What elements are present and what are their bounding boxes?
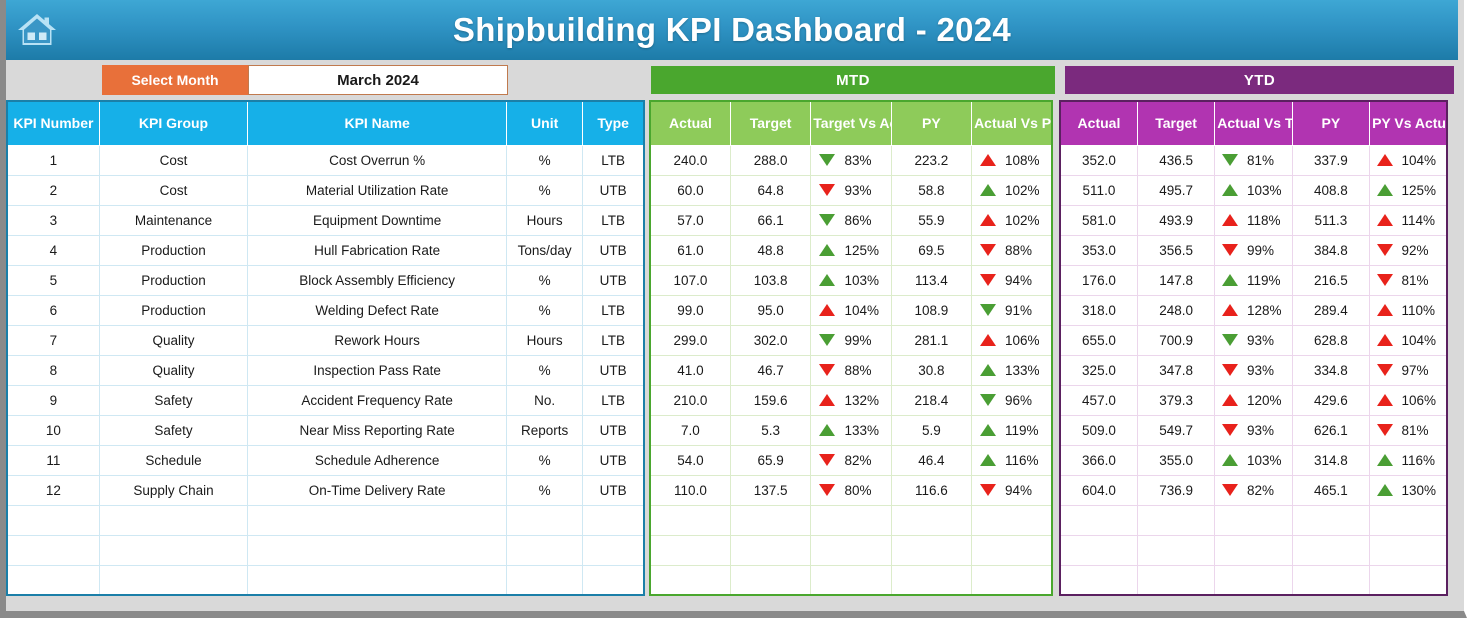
empty-cell: [99, 505, 247, 535]
cell-ytd-actual: 581.0: [1060, 205, 1137, 235]
variance-value: 114%: [1402, 213, 1440, 228]
cell-type: UTB: [583, 265, 644, 295]
trend-up-icon: [1377, 304, 1393, 316]
variance-value: 132%: [844, 393, 882, 408]
variance-value: 103%: [844, 273, 882, 288]
cell-mtd-py: 116.6: [891, 475, 971, 505]
cell-mtd-py: 69.5: [891, 235, 971, 265]
cell-kpi-number: 10: [7, 415, 99, 445]
variance-value: 82%: [1247, 483, 1285, 498]
col-unit: Unit: [507, 101, 583, 145]
cell-kpi-group: Production: [99, 265, 247, 295]
cell-ytd-py-vs-actual: 104%: [1370, 145, 1447, 175]
variance-value: 81%: [1247, 153, 1285, 168]
cell-ytd-actual: 366.0: [1060, 445, 1137, 475]
trend-up-icon: [980, 334, 996, 346]
cell-kpi-name: Material Utilization Rate: [248, 175, 507, 205]
title-bar: Shipbuilding KPI Dashboard - 2024: [6, 0, 1458, 60]
cell-mtd-target-vs-actual: 103%: [811, 265, 891, 295]
trend-up-icon: [1222, 214, 1238, 226]
variance-value: 106%: [1005, 333, 1043, 348]
cell-mtd-target-vs-actual: 88%: [811, 355, 891, 385]
cell-unit: Hours: [507, 205, 583, 235]
select-month-label: Select Month: [102, 65, 248, 95]
cell-mtd-actual: 61.0: [650, 235, 730, 265]
cell-type: LTB: [583, 205, 644, 235]
trend-up-icon: [819, 304, 835, 316]
cell-unit: %: [507, 475, 583, 505]
cell-mtd-target-vs-actual: 99%: [811, 325, 891, 355]
variance-value: 103%: [1247, 183, 1285, 198]
cell-ytd-actual-vs-target: 119%: [1215, 265, 1292, 295]
cell-kpi-number: 2: [7, 175, 99, 205]
trend-down-icon: [819, 334, 835, 346]
cell-mtd-target-vs-actual: 86%: [811, 205, 891, 235]
cell-mtd-target-vs-actual: 104%: [811, 295, 891, 325]
cell-mtd-actual: 7.0: [650, 415, 730, 445]
trend-up-icon: [1377, 394, 1393, 406]
empty-cell: [1292, 535, 1369, 565]
trend-up-icon: [1222, 394, 1238, 406]
col-ytd-actual: Actual: [1060, 101, 1137, 145]
table-row: 7.05.3133%5.9119%: [650, 415, 1052, 445]
table-row: 60.064.893%58.8102%: [650, 175, 1052, 205]
cell-mtd-actual: 54.0: [650, 445, 730, 475]
trend-down-icon: [819, 184, 835, 196]
mtd-header: Actual Target Target Vs Actual PY Actual…: [650, 101, 1052, 145]
table-row: 6ProductionWelding Defect Rate%LTB: [7, 295, 644, 325]
cell-mtd-actual: 110.0: [650, 475, 730, 505]
cell-ytd-actual-vs-target: 82%: [1215, 475, 1292, 505]
empty-cell: [7, 565, 99, 595]
table-row: 4ProductionHull Fabrication RateTons/day…: [7, 235, 644, 265]
cell-ytd-target: 700.9: [1137, 325, 1214, 355]
variance-value: 133%: [1005, 363, 1043, 378]
cell-mtd-actual: 107.0: [650, 265, 730, 295]
trend-down-icon: [1222, 334, 1238, 346]
cell-kpi-name: Inspection Pass Rate: [248, 355, 507, 385]
cell-ytd-py: 628.8: [1292, 325, 1369, 355]
empty-cell: [1060, 505, 1137, 535]
cell-ytd-actual: 655.0: [1060, 325, 1137, 355]
dashboard-frame: Shipbuilding KPI Dashboard - 2024 Select…: [0, 0, 1467, 618]
cell-ytd-target: 495.7: [1137, 175, 1214, 205]
cell-mtd-actual-vs-py: 96%: [972, 385, 1052, 415]
variance-value: 116%: [1402, 453, 1440, 468]
variance-value: 96%: [1005, 393, 1043, 408]
table-row-empty: [7, 535, 644, 565]
cell-kpi-number: 4: [7, 235, 99, 265]
variance-value: 102%: [1005, 213, 1043, 228]
cell-mtd-target: 66.1: [730, 205, 810, 235]
variance-value: 104%: [1402, 333, 1440, 348]
variance-value: 125%: [1402, 183, 1440, 198]
col-mtd-actual-vs-py: Actual Vs PY: [972, 101, 1052, 145]
empty-cell: [1292, 505, 1369, 535]
empty-cell: [730, 565, 810, 595]
select-month-input[interactable]: March 2024: [248, 65, 508, 95]
empty-cell: [1215, 535, 1292, 565]
cell-ytd-py: 314.8: [1292, 445, 1369, 475]
cell-mtd-target: 48.8: [730, 235, 810, 265]
table-row: 99.095.0104%108.991%: [650, 295, 1052, 325]
variance-value: 104%: [844, 303, 882, 318]
cell-ytd-target: 248.0: [1137, 295, 1214, 325]
empty-cell: [650, 535, 730, 565]
cell-type: UTB: [583, 475, 644, 505]
trend-down-icon: [980, 484, 996, 496]
cell-ytd-actual-vs-target: 93%: [1215, 415, 1292, 445]
cell-type: UTB: [583, 415, 644, 445]
table-row: 604.0736.982%465.1130%: [1060, 475, 1447, 505]
cell-ytd-actual: 318.0: [1060, 295, 1137, 325]
cell-mtd-actual-vs-py: 108%: [972, 145, 1052, 175]
cell-mtd-actual: 240.0: [650, 145, 730, 175]
col-ytd-actual-vs-target: Actual Vs Target: [1215, 101, 1292, 145]
cell-mtd-actual-vs-py: 106%: [972, 325, 1052, 355]
cell-mtd-target: 64.8: [730, 175, 810, 205]
cell-kpi-group: Safety: [99, 385, 247, 415]
cell-unit: Tons/day: [507, 235, 583, 265]
trend-down-icon: [1377, 244, 1393, 256]
trend-up-icon: [1377, 184, 1393, 196]
cell-mtd-target: 65.9: [730, 445, 810, 475]
cell-unit: %: [507, 295, 583, 325]
cell-mtd-target-vs-actual: 125%: [811, 235, 891, 265]
table-row: 210.0159.6132%218.496%: [650, 385, 1052, 415]
variance-value: 119%: [1247, 273, 1285, 288]
trend-up-icon: [1377, 214, 1393, 226]
trend-down-icon: [1377, 424, 1393, 436]
cell-ytd-py-vs-actual: 106%: [1370, 385, 1447, 415]
cell-mtd-actual: 99.0: [650, 295, 730, 325]
empty-cell: [730, 505, 810, 535]
cell-mtd-target-vs-actual: 82%: [811, 445, 891, 475]
cell-mtd-target-vs-actual: 83%: [811, 145, 891, 175]
variance-value: 99%: [844, 333, 882, 348]
cell-kpi-number: 8: [7, 355, 99, 385]
cell-ytd-py: 216.5: [1292, 265, 1369, 295]
cell-mtd-py: 108.9: [891, 295, 971, 325]
cell-kpi-name: Rework Hours: [248, 325, 507, 355]
mtd-header-row: Actual Target Target Vs Actual PY Actual…: [650, 101, 1052, 145]
cell-kpi-number: 5: [7, 265, 99, 295]
cell-kpi-name: Cost Overrun %: [248, 145, 507, 175]
cell-mtd-actual-vs-py: 133%: [972, 355, 1052, 385]
cell-mtd-actual: 210.0: [650, 385, 730, 415]
cell-mtd-actual: 60.0: [650, 175, 730, 205]
cell-mtd-target: 159.6: [730, 385, 810, 415]
trend-down-icon: [1222, 364, 1238, 376]
trend-down-icon: [1377, 364, 1393, 376]
empty-cell: [507, 565, 583, 595]
cell-unit: %: [507, 445, 583, 475]
empty-cell: [891, 505, 971, 535]
cell-kpi-group: Quality: [99, 325, 247, 355]
cell-mtd-actual-vs-py: 94%: [972, 475, 1052, 505]
trend-up-icon: [980, 154, 996, 166]
cell-ytd-target: 549.7: [1137, 415, 1214, 445]
empty-cell: [1292, 565, 1369, 595]
empty-cell: [972, 505, 1052, 535]
trend-up-icon: [1222, 304, 1238, 316]
empty-cell: [248, 535, 507, 565]
page-title: Shipbuilding KPI Dashboard - 2024: [6, 11, 1458, 49]
cell-kpi-name: Accident Frequency Rate: [248, 385, 507, 415]
variance-value: 118%: [1247, 213, 1285, 228]
empty-cell: [1370, 505, 1447, 535]
empty-cell: [1137, 565, 1214, 595]
cell-ytd-actual-vs-target: 93%: [1215, 325, 1292, 355]
cell-kpi-name: Equipment Downtime: [248, 205, 507, 235]
cell-ytd-target: 147.8: [1137, 265, 1214, 295]
ytd-body: 352.0436.581%337.9104%511.0495.7103%408.…: [1060, 145, 1447, 595]
cell-unit: %: [507, 175, 583, 205]
cell-ytd-actual: 352.0: [1060, 145, 1137, 175]
variance-value: 104%: [1402, 153, 1440, 168]
mtd-table: Actual Target Target Vs Actual PY Actual…: [649, 100, 1053, 596]
cell-ytd-actual-vs-target: 118%: [1215, 205, 1292, 235]
cell-type: UTB: [583, 235, 644, 265]
variance-value: 86%: [844, 213, 882, 228]
tables-container: KPI Number KPI Group KPI Name Unit Type …: [6, 100, 1464, 608]
table-row: 12Supply ChainOn-Time Delivery Rate%UTB: [7, 475, 644, 505]
trend-up-icon: [1377, 334, 1393, 346]
cell-ytd-py: 408.8: [1292, 175, 1369, 205]
empty-cell: [972, 535, 1052, 565]
trend-down-icon: [819, 364, 835, 376]
cell-unit: Hours: [507, 325, 583, 355]
variance-value: 116%: [1005, 453, 1043, 468]
col-type: Type: [583, 101, 644, 145]
col-mtd-target: Target: [730, 101, 810, 145]
empty-cell: [248, 505, 507, 535]
cell-ytd-actual: 604.0: [1060, 475, 1137, 505]
empty-cell: [583, 505, 644, 535]
trend-down-icon: [980, 274, 996, 286]
trend-up-icon: [980, 424, 996, 436]
variance-value: 130%: [1402, 483, 1440, 498]
cell-ytd-py-vs-actual: 116%: [1370, 445, 1447, 475]
table-row: 509.0549.793%626.181%: [1060, 415, 1447, 445]
cell-ytd-py-vs-actual: 81%: [1370, 265, 1447, 295]
cell-mtd-actual-vs-py: 91%: [972, 295, 1052, 325]
cell-ytd-target: 347.8: [1137, 355, 1214, 385]
variance-value: 83%: [844, 153, 882, 168]
cell-ytd-py: 337.9: [1292, 145, 1369, 175]
trend-down-icon: [819, 214, 835, 226]
cell-mtd-actual: 57.0: [650, 205, 730, 235]
cell-ytd-actual-vs-target: 103%: [1215, 175, 1292, 205]
cell-ytd-target: 493.9: [1137, 205, 1214, 235]
cell-kpi-group: Production: [99, 235, 247, 265]
cell-mtd-target: 288.0: [730, 145, 810, 175]
cell-mtd-py: 218.4: [891, 385, 971, 415]
empty-cell: [507, 535, 583, 565]
mtd-banner: MTD: [651, 66, 1055, 94]
cell-ytd-actual: 457.0: [1060, 385, 1137, 415]
trend-up-icon: [1222, 184, 1238, 196]
empty-cell: [1137, 505, 1214, 535]
variance-value: 120%: [1247, 393, 1285, 408]
variance-value: 106%: [1402, 393, 1440, 408]
cell-type: LTB: [583, 385, 644, 415]
cell-kpi-group: Supply Chain: [99, 475, 247, 505]
variance-value: 97%: [1402, 363, 1440, 378]
cell-mtd-py: 113.4: [891, 265, 971, 295]
kpi-info-table: KPI Number KPI Group KPI Name Unit Type …: [6, 100, 645, 596]
cell-mtd-target-vs-actual: 133%: [811, 415, 891, 445]
variance-value: 94%: [1005, 483, 1043, 498]
cell-kpi-name: Schedule Adherence: [248, 445, 507, 475]
empty-cell: [1215, 505, 1292, 535]
col-ytd-py: PY: [1292, 101, 1369, 145]
cell-mtd-actual-vs-py: 119%: [972, 415, 1052, 445]
trend-up-icon: [819, 274, 835, 286]
trend-down-icon: [1377, 274, 1393, 286]
trend-up-icon: [819, 394, 835, 406]
col-ytd-py-vs-actual: PY Vs Actual: [1370, 101, 1447, 145]
cell-kpi-number: 11: [7, 445, 99, 475]
table-row: 176.0147.8119%216.581%: [1060, 265, 1447, 295]
cell-ytd-py: 429.6: [1292, 385, 1369, 415]
table-row: 511.0495.7103%408.8125%: [1060, 175, 1447, 205]
kpi-info-body: 1CostCost Overrun %%LTB2CostMaterial Uti…: [7, 145, 644, 595]
table-row: 3MaintenanceEquipment DowntimeHoursLTB: [7, 205, 644, 235]
variance-value: 119%: [1005, 423, 1043, 438]
cell-mtd-target: 95.0: [730, 295, 810, 325]
trend-down-icon: [819, 484, 835, 496]
variance-value: 99%: [1247, 243, 1285, 258]
ytd-header-row: Actual Target Actual Vs Target PY PY Vs …: [1060, 101, 1447, 145]
variance-value: 108%: [1005, 153, 1043, 168]
cell-mtd-actual: 41.0: [650, 355, 730, 385]
trend-down-icon: [819, 454, 835, 466]
kpi-info-header: KPI Number KPI Group KPI Name Unit Type: [7, 101, 644, 145]
cell-ytd-py-vs-actual: 104%: [1370, 325, 1447, 355]
variance-value: 93%: [1247, 363, 1285, 378]
variance-value: 88%: [844, 363, 882, 378]
cell-ytd-target: 736.9: [1137, 475, 1214, 505]
variance-value: 94%: [1005, 273, 1043, 288]
cell-kpi-name: Hull Fabrication Rate: [248, 235, 507, 265]
empty-cell: [891, 535, 971, 565]
cell-ytd-py-vs-actual: 81%: [1370, 415, 1447, 445]
empty-cell: [1060, 565, 1137, 595]
empty-cell: [248, 565, 507, 595]
trend-down-icon: [980, 304, 996, 316]
cell-ytd-py: 289.4: [1292, 295, 1369, 325]
cell-mtd-actual-vs-py: 116%: [972, 445, 1052, 475]
cell-ytd-py-vs-actual: 130%: [1370, 475, 1447, 505]
empty-cell: [972, 565, 1052, 595]
trend-down-icon: [1222, 484, 1238, 496]
cell-mtd-py: 46.4: [891, 445, 971, 475]
cell-ytd-actual-vs-target: 103%: [1215, 445, 1292, 475]
cell-mtd-actual-vs-py: 88%: [972, 235, 1052, 265]
cell-ytd-py: 626.1: [1292, 415, 1369, 445]
cell-mtd-py: 223.2: [891, 145, 971, 175]
table-row-empty: [650, 565, 1052, 595]
empty-cell: [1060, 535, 1137, 565]
cell-kpi-group: Schedule: [99, 445, 247, 475]
table-row-empty: [1060, 535, 1447, 565]
trend-down-icon: [1222, 244, 1238, 256]
empty-cell: [730, 535, 810, 565]
col-mtd-actual: Actual: [650, 101, 730, 145]
cell-kpi-number: 1: [7, 145, 99, 175]
trend-down-icon: [1222, 154, 1238, 166]
variance-value: 125%: [844, 243, 882, 258]
cell-ytd-py: 465.1: [1292, 475, 1369, 505]
trend-down-icon: [1222, 424, 1238, 436]
empty-cell: [811, 505, 891, 535]
cell-unit: Reports: [507, 415, 583, 445]
empty-cell: [507, 505, 583, 535]
variance-value: 128%: [1247, 303, 1285, 318]
empty-cell: [7, 505, 99, 535]
cell-ytd-actual: 509.0: [1060, 415, 1137, 445]
table-row: 61.048.8125%69.588%: [650, 235, 1052, 265]
table-row-empty: [1060, 565, 1447, 595]
empty-cell: [583, 535, 644, 565]
empty-cell: [1137, 535, 1214, 565]
cell-ytd-actual: 353.0: [1060, 235, 1137, 265]
table-row: 655.0700.993%628.8104%: [1060, 325, 1447, 355]
cell-mtd-target-vs-actual: 93%: [811, 175, 891, 205]
empty-cell: [811, 535, 891, 565]
cell-ytd-py: 334.8: [1292, 355, 1369, 385]
variance-value: 81%: [1402, 423, 1440, 438]
cell-kpi-number: 6: [7, 295, 99, 325]
trend-up-icon: [1222, 454, 1238, 466]
cell-type: UTB: [583, 445, 644, 475]
empty-cell: [99, 535, 247, 565]
cell-ytd-actual: 511.0: [1060, 175, 1137, 205]
ytd-banner: YTD: [1065, 66, 1454, 94]
table-row: 2CostMaterial Utilization Rate%UTB: [7, 175, 644, 205]
empty-cell: [583, 565, 644, 595]
cell-unit: %: [507, 355, 583, 385]
variance-value: 92%: [1402, 243, 1440, 258]
table-row: 9SafetyAccident Frequency RateNo.LTB: [7, 385, 644, 415]
trend-up-icon: [819, 424, 835, 436]
cell-ytd-py: 384.8: [1292, 235, 1369, 265]
cell-mtd-py: 55.9: [891, 205, 971, 235]
empty-cell: [1370, 565, 1447, 595]
cell-mtd-target-vs-actual: 132%: [811, 385, 891, 415]
empty-cell: [1370, 535, 1447, 565]
cell-kpi-group: Cost: [99, 175, 247, 205]
cell-mtd-py: 281.1: [891, 325, 971, 355]
cell-kpi-name: On-Time Delivery Rate: [248, 475, 507, 505]
cell-kpi-group: Maintenance: [99, 205, 247, 235]
table-row: 240.0288.083%223.2108%: [650, 145, 1052, 175]
cell-kpi-group: Quality: [99, 355, 247, 385]
table-row: 7QualityRework HoursHoursLTB: [7, 325, 644, 355]
table-row: 10SafetyNear Miss Reporting RateReportsU…: [7, 415, 644, 445]
table-row: 352.0436.581%337.9104%: [1060, 145, 1447, 175]
control-strip: Select Month March 2024 MTD YTD: [6, 60, 1464, 100]
cell-kpi-number: 7: [7, 325, 99, 355]
table-row: 318.0248.0128%289.4110%: [1060, 295, 1447, 325]
trend-up-icon: [1377, 454, 1393, 466]
table-row-empty: [7, 505, 644, 535]
variance-value: 102%: [1005, 183, 1043, 198]
cell-mtd-target: 137.5: [730, 475, 810, 505]
cell-ytd-actual: 176.0: [1060, 265, 1137, 295]
table-row: 366.0355.0103%314.8116%: [1060, 445, 1447, 475]
